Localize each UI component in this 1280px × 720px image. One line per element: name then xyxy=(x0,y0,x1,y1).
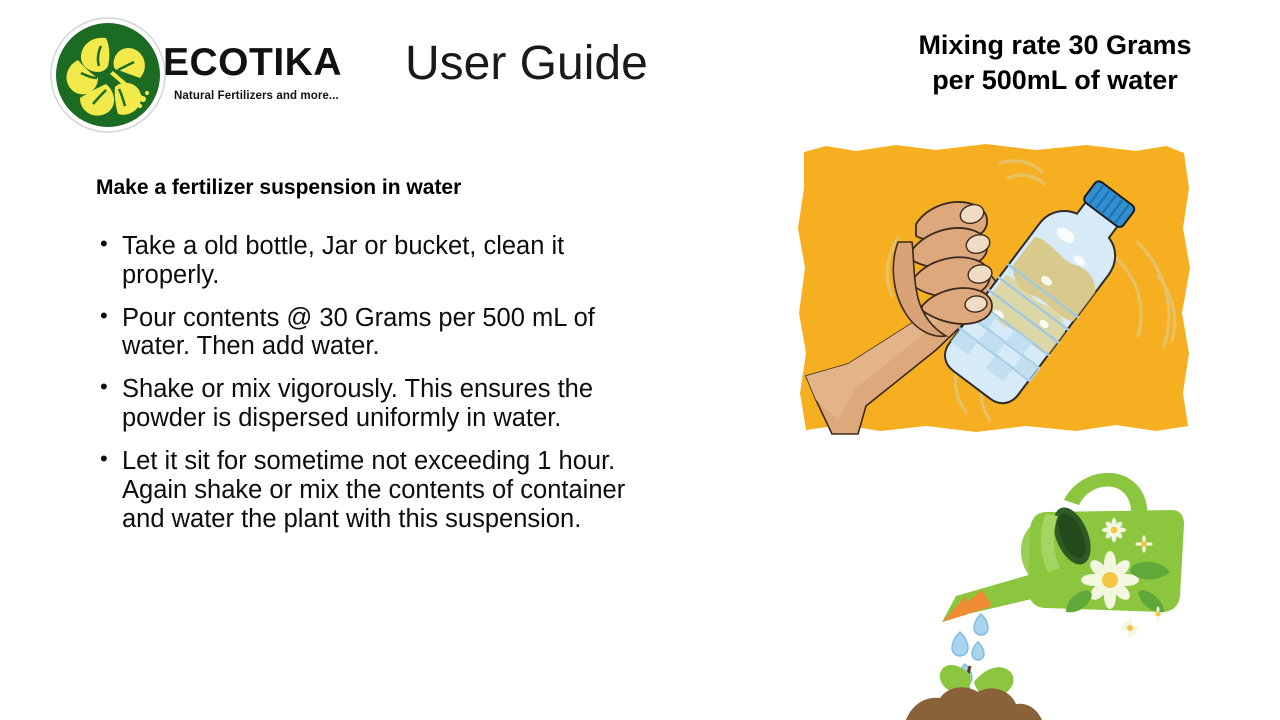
page-title: User Guide xyxy=(405,36,648,91)
mixing-rate-line-1: Mixing rate 30 Grams xyxy=(855,28,1255,63)
watering-can-watering-seedling-illustration xyxy=(896,438,1196,720)
list-item: Let it sit for sometime not exceeding 1 … xyxy=(96,447,666,533)
brand-tagline: Natural Fertilizers and more... xyxy=(174,90,339,102)
hand-shaking-water-bottle-illustration xyxy=(786,138,1200,438)
mixing-rate-callout: Mixing rate 30 Grams per 500mL of water xyxy=(855,28,1255,97)
instructions-list: Take a old bottle, Jar or bucket, clean … xyxy=(96,232,666,547)
list-item: Shake or mix vigorously. This ensures th… xyxy=(96,375,666,433)
instructions-heading: Make a fertilizer suspension in water xyxy=(96,176,461,200)
list-item: Take a old bottle, Jar or bucket, clean … xyxy=(96,232,666,290)
list-item: Pour contents @ 30 Grams per 500 mL of w… xyxy=(96,304,666,362)
brand-name: ECOTIKA xyxy=(163,43,342,82)
ecotika-logo xyxy=(48,16,168,134)
mixing-rate-line-2: per 500mL of water xyxy=(855,63,1255,98)
